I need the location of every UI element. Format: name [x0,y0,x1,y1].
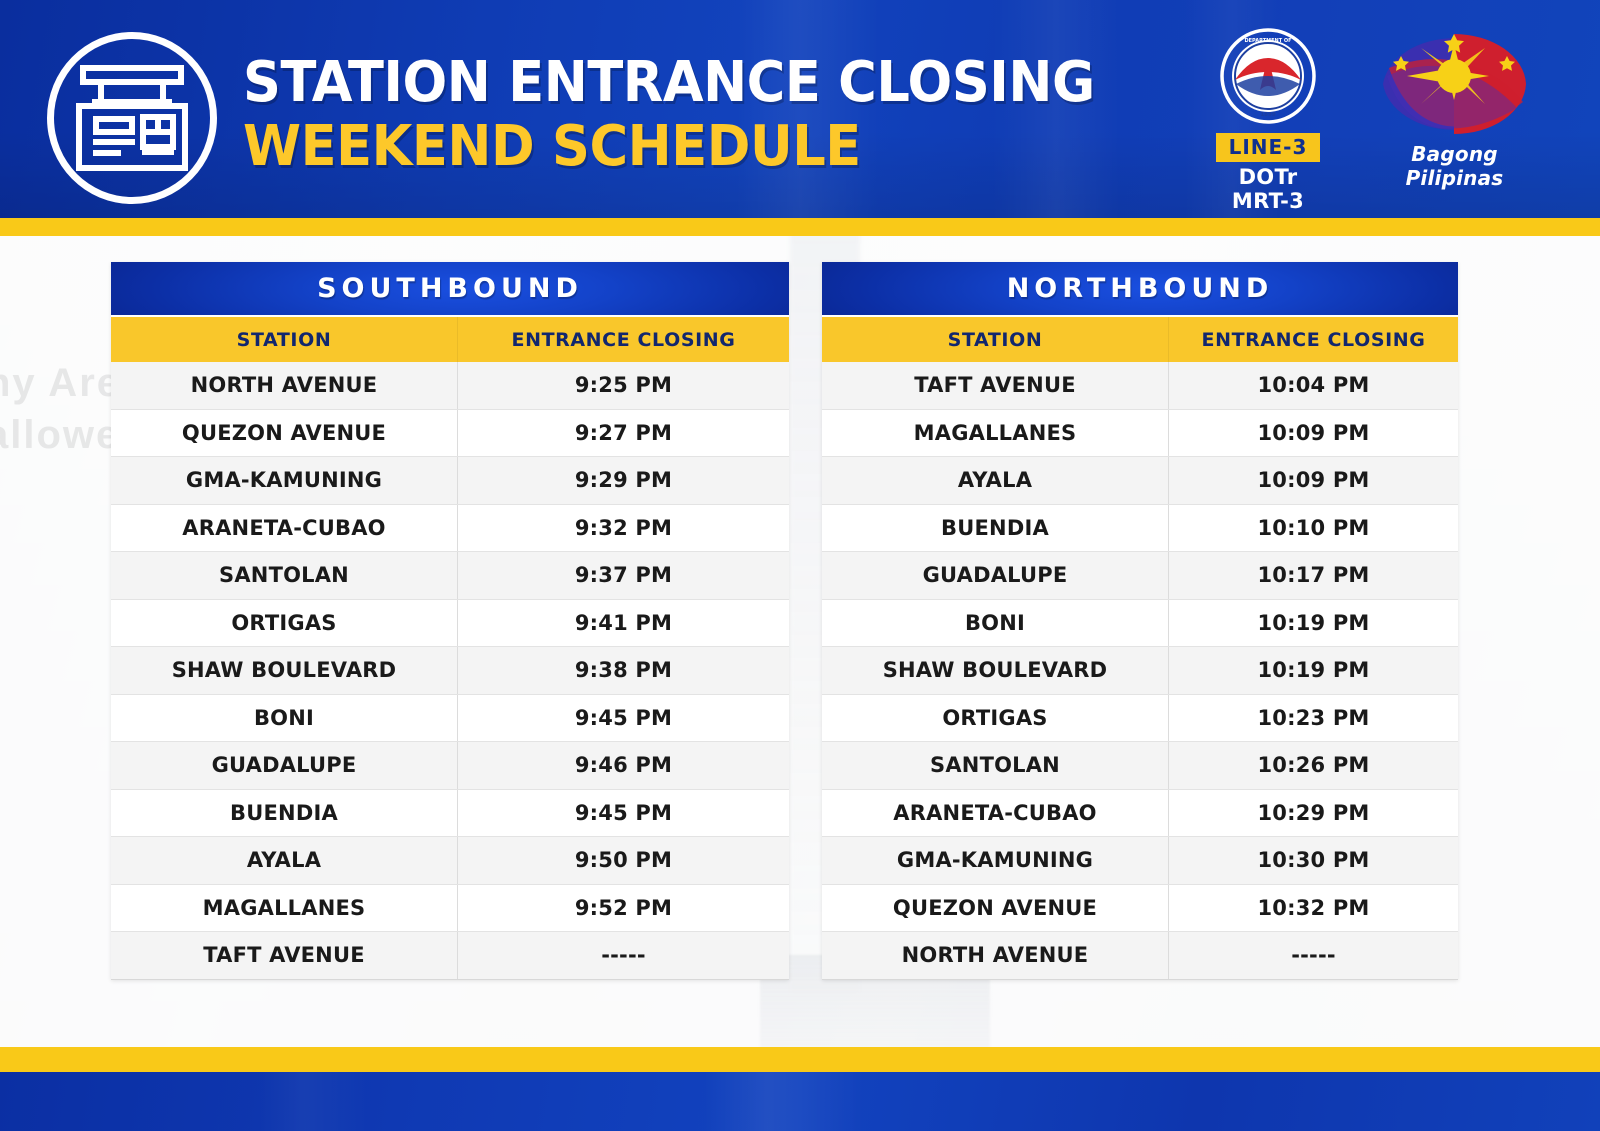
table-row: BONI9:45 PM [111,695,789,743]
entrance-closing-cell: ----- [457,932,789,979]
station-name-cell: ARANETA-CUBAO [822,790,1168,837]
entrance-closing-cell: 10:09 PM [1168,410,1458,457]
station-name-cell: TAFT AVENUE [111,932,457,979]
southbound-header-row: STATION ENTRANCE CLOSING [111,317,789,362]
station-name-cell: ARANETA-CUBAO [111,505,457,552]
station-name-cell: SHAW BOULEVARD [111,647,457,694]
table-row: SANTOLAN9:37 PM [111,552,789,600]
entrance-closing-cell: 10:29 PM [1168,790,1458,837]
station-name-cell: BUENDIA [822,505,1168,552]
northbound-table: NORTHBOUND STATION ENTRANCE CLOSING TAFT… [822,262,1458,980]
table-row: SANTOLAN10:26 PM [822,742,1458,790]
line3-badge: LINE-3 [1216,133,1320,162]
station-name-cell: SHAW BOULEVARD [822,647,1168,694]
station-name-cell: AYALA [822,457,1168,504]
entrance-closing-cell: 10:26 PM [1168,742,1458,789]
entrance-closing-cell: 10:17 PM [1168,552,1458,599]
entrance-closing-cell: 9:27 PM [457,410,789,457]
entrance-closing-cell: 10:04 PM [1168,362,1458,409]
header-accent-strip [0,218,1600,236]
station-name-cell: GMA-KAMUNING [111,457,457,504]
station-name-cell: SANTOLAN [822,742,1168,789]
entrance-closing-cell: ----- [1168,932,1458,979]
entrance-closing-cell: 9:45 PM [457,695,789,742]
bagong-pilipinas-logo: Bagong Pilipinas [1367,28,1542,190]
footer-accent-strip [0,1047,1600,1072]
dotr-subtitle: DOTr MRT-3 [1209,165,1327,213]
station-name-cell: SANTOLAN [111,552,457,599]
table-row: NORTH AVENUE----- [822,932,1458,980]
title-line-1: STATION ENTRANCE CLOSING [243,52,1095,114]
table-row: TAFT AVENUE----- [111,932,789,980]
table-row: TAFT AVENUE10:04 PM [822,362,1458,410]
station-name-cell: GUADALUPE [111,742,457,789]
table-row: AYALA9:50 PM [111,837,789,885]
bagong-pilipinas-icon [1377,28,1532,140]
poster-title: STATION ENTRANCE CLOSING WEEKEND SCHEDUL… [243,52,1149,178]
station-name-cell: GMA-KAMUNING [822,837,1168,884]
entrance-closing-cell: 9:25 PM [457,362,789,409]
entrance-closing-cell: 10:19 PM [1168,600,1458,647]
entrance-closing-cell: 9:41 PM [457,600,789,647]
title-line-2: WEEKEND SCHEDULE [243,116,1095,178]
northbound-body: TAFT AVENUE10:04 PMMAGALLANES10:09 PMAYA… [822,362,1458,980]
station-name-cell: NORTH AVENUE [822,932,1168,979]
station-name-cell: BUENDIA [111,790,457,837]
dotr-seal-icon: DEPARTMENT OF 1899 [1220,28,1316,124]
entrance-closing-cell: 9:50 PM [457,837,789,884]
table-row: MAGALLANES9:52 PM [111,885,789,933]
column-header-station: STATION [111,317,457,362]
northbound-title: NORTHBOUND [822,262,1458,317]
table-row: GUADALUPE9:46 PM [111,742,789,790]
entrance-closing-cell: 9:38 PM [457,647,789,694]
table-row: BONI10:19 PM [822,600,1458,648]
entrance-closing-cell: 10:23 PM [1168,695,1458,742]
station-signage-train-icon [47,32,217,204]
entrance-closing-cell: 9:32 PM [457,505,789,552]
entrance-closing-cell: 9:29 PM [457,457,789,504]
table-row: BUENDIA9:45 PM [111,790,789,838]
table-row: NORTH AVENUE9:25 PM [111,362,789,410]
header-banner: STATION ENTRANCE CLOSING WEEKEND SCHEDUL… [0,0,1600,218]
entrance-closing-cell: 10:30 PM [1168,837,1458,884]
svg-text:1899: 1899 [1260,112,1275,118]
station-name-cell: BONI [822,600,1168,647]
table-row: MAGALLANES10:09 PM [822,410,1458,458]
table-row: QUEZON AVENUE9:27 PM [111,410,789,458]
station-name-cell: MAGALLANES [111,885,457,932]
table-row: ORTIGAS9:41 PM [111,600,789,648]
station-name-cell: QUEZON AVENUE [822,885,1168,932]
entrance-closing-cell: 10:32 PM [1168,885,1458,932]
station-name-cell: GUADALUPE [822,552,1168,599]
table-row: GUADALUPE10:17 PM [822,552,1458,600]
station-name-cell: NORTH AVENUE [111,362,457,409]
station-name-cell: ORTIGAS [822,695,1168,742]
station-name-cell: AYALA [111,837,457,884]
column-header-station: STATION [822,317,1168,362]
southbound-table: SOUTHBOUND STATION ENTRANCE CLOSING NORT… [111,262,789,980]
entrance-closing-cell: 9:45 PM [457,790,789,837]
station-name-cell: TAFT AVENUE [822,362,1168,409]
northbound-header-row: STATION ENTRANCE CLOSING [822,317,1458,362]
southbound-body: NORTH AVENUE9:25 PMQUEZON AVENUE9:27 PMG… [111,362,789,980]
entrance-closing-cell: 10:19 PM [1168,647,1458,694]
station-name-cell: QUEZON AVENUE [111,410,457,457]
entrance-closing-cell: 9:46 PM [457,742,789,789]
entrance-closing-cell: 10:09 PM [1168,457,1458,504]
entrance-closing-cell: 9:37 PM [457,552,789,599]
table-row: SHAW BOULEVARD9:38 PM [111,647,789,695]
poster-root: hy Are allowe STATION ENTRANCE CLOSING W [0,0,1600,1131]
table-row: GMA-KAMUNING9:29 PM [111,457,789,505]
station-name-cell: ORTIGAS [111,600,457,647]
entrance-closing-cell: 9:52 PM [457,885,789,932]
table-row: ARANETA-CUBAO9:32 PM [111,505,789,553]
table-row: ORTIGAS10:23 PM [822,695,1458,743]
footer-band [0,1072,1600,1131]
table-row: SHAW BOULEVARD10:19 PM [822,647,1458,695]
header-logos: DEPARTMENT OF 1899 LINE-3 DOTr MRT-3 [1209,28,1542,213]
table-row: GMA-KAMUNING10:30 PM [822,837,1458,885]
svg-text:DEPARTMENT OF: DEPARTMENT OF [1244,38,1291,44]
entrance-closing-cell: 10:10 PM [1168,505,1458,552]
southbound-title: SOUTHBOUND [111,262,789,317]
column-header-entrance-closing: ENTRANCE CLOSING [457,317,789,362]
bagong-pilipinas-label: Bagong Pilipinas [1367,142,1542,190]
dotr-logo: DEPARTMENT OF 1899 LINE-3 DOTr MRT-3 [1209,28,1327,213]
table-row: ARANETA-CUBAO10:29 PM [822,790,1458,838]
table-row: AYALA10:09 PM [822,457,1458,505]
column-header-entrance-closing: ENTRANCE CLOSING [1168,317,1458,362]
table-row: QUEZON AVENUE10:32 PM [822,885,1458,933]
station-name-cell: BONI [111,695,457,742]
table-row: BUENDIA10:10 PM [822,505,1458,553]
station-name-cell: MAGALLANES [822,410,1168,457]
